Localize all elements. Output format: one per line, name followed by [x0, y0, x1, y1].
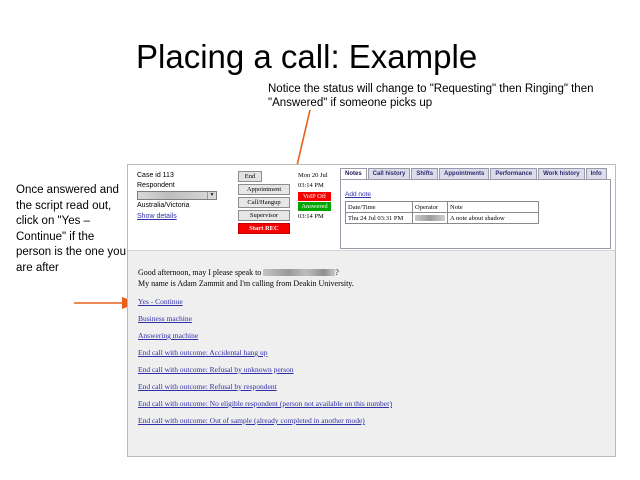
cell-datetime: Thu 24 Jul 03:31 PM	[346, 213, 413, 224]
script-line-2: My name is Adam Zammit and I'm calling f…	[138, 278, 605, 289]
script-line-1: Good afternoon, may I please speak to ?	[138, 267, 605, 278]
start-rec-button[interactable]: Start REC	[238, 223, 290, 234]
script-option-out-of-sample[interactable]: End call with outcome: Out of sample (al…	[138, 416, 605, 426]
timezone-label: Australia/Victoria	[137, 201, 235, 211]
table-row[interactable]: Thu 24 Jul 03:31 PM A note about shadow	[346, 213, 539, 224]
script-area: Good afternoon, may I please speak to ? …	[128, 261, 615, 456]
script-line-1-before: Good afternoon, may I please speak to	[138, 268, 263, 277]
respondent-select[interactable]: ▼	[137, 191, 217, 200]
annotation-yes-continue: Once answered and the script read out, c…	[16, 183, 128, 276]
redacted-operator	[415, 215, 445, 221]
application-screenshot: Case id 113 Respondent ▼ Australia/Victo…	[127, 164, 616, 457]
table-header-row: Date/Time Operator Note	[346, 202, 539, 213]
column-header-datetime: Date/Time	[346, 202, 413, 213]
column-header-note: Note	[448, 202, 539, 213]
tab-performance[interactable]: Performance	[490, 168, 537, 179]
call-status-badge: Answered	[298, 202, 331, 211]
script-text: Good afternoon, may I please speak to ? …	[138, 267, 605, 289]
call-hangup-button[interactable]: Call/Hangup	[238, 197, 290, 208]
tab-info[interactable]: Info	[586, 168, 607, 179]
tab-work-history[interactable]: Work history	[538, 168, 585, 179]
respondent-label: Respondent	[137, 181, 235, 191]
tab-appointments[interactable]: Appointments	[439, 168, 489, 179]
tab-shifts[interactable]: Shifts	[411, 168, 438, 179]
tabs-panel: Notes Call history Shifts Appointments P…	[340, 168, 611, 248]
case-id-label: Case id 113	[137, 171, 235, 181]
redacted-respondent-name	[263, 269, 335, 276]
tab-strip: Notes Call history Shifts Appointments P…	[340, 168, 611, 180]
status-time-bottom: 03:14 PM	[298, 212, 338, 222]
supervisor-button[interactable]: Supervisor	[238, 210, 290, 221]
page-title: Placing a call: Example	[136, 38, 477, 76]
script-option-refusal-respondent[interactable]: End call with outcome: Refusal by respon…	[138, 382, 605, 392]
notes-tab-body: Add note Date/Time Operator Note Thu 24 …	[340, 180, 611, 249]
voip-status-badge: VoIP Off	[298, 192, 331, 201]
show-details-link[interactable]: Show details	[137, 212, 177, 222]
script-option-refusal-unknown-person[interactable]: End call with outcome: Refusal by unknow…	[138, 365, 605, 375]
script-option-accidental-hangup[interactable]: End call with outcome: Accidental hang u…	[138, 348, 605, 358]
app-top-bar: Case id 113 Respondent ▼ Australia/Victo…	[128, 165, 615, 251]
end-button[interactable]: End	[238, 171, 262, 182]
tab-call-history[interactable]: Call history	[368, 168, 411, 179]
status-date: Mon 20 Jul	[298, 171, 338, 181]
cell-note: A note about shadow	[448, 213, 539, 224]
column-header-operator: Operator	[413, 202, 448, 213]
script-line-1-after: ?	[335, 268, 339, 277]
script-option-answering-machine[interactable]: Answering machine	[138, 331, 605, 341]
script-option-no-eligible-respondent[interactable]: End call with outcome: No eligible respo…	[138, 399, 605, 409]
call-action-buttons: End Appointment Call/Hangup Supervisor S…	[238, 171, 290, 236]
script-option-business-machine[interactable]: Business machine	[138, 314, 605, 324]
case-info-panel: Case id 113 Respondent ▼ Australia/Victo…	[137, 171, 235, 221]
status-time-top: 03:14 PM	[298, 181, 338, 191]
notes-table: Date/Time Operator Note Thu 24 Jul 03:31…	[345, 201, 539, 224]
script-option-yes-continue[interactable]: Yes - Continue	[138, 297, 605, 307]
cell-operator	[413, 213, 448, 224]
add-note-link[interactable]: Add note	[345, 191, 371, 198]
status-column: Mon 20 Jul 03:14 PM VoIP Off Answered 03…	[298, 171, 338, 222]
appointment-button[interactable]: Appointment	[238, 184, 290, 195]
tab-notes[interactable]: Notes	[340, 168, 367, 179]
annotation-status-change: Notice the status will change to "Reques…	[268, 82, 598, 110]
chevron-down-icon: ▼	[207, 192, 216, 199]
